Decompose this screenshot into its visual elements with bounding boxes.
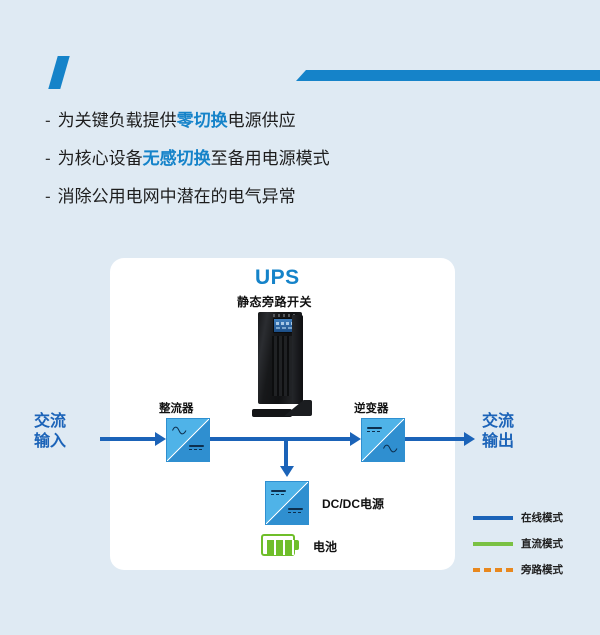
slash-accent-icon [48, 56, 69, 89]
list-item: - 消除公用电网中潜在的电气异常 [45, 186, 565, 209]
legend-label-online: 在线模式 [521, 510, 563, 525]
wire-inverter-to-output [404, 437, 466, 441]
dcdc-label: DC/DC电源 [322, 495, 384, 512]
ups-subtitle: 静态旁路开关 [237, 293, 312, 310]
legend-item-bypass: 旁路模式 [473, 562, 593, 577]
bullet-highlight: 零切换 [177, 110, 228, 133]
ac-output-label-line1: 交流 [482, 412, 514, 432]
battery-cells [267, 540, 294, 555]
battery-shell [261, 534, 295, 556]
bullet-marker: - [45, 110, 51, 133]
wire-input-to-rectifier [100, 437, 156, 441]
header-bar-accent [296, 70, 600, 81]
dc-symbol-icon [271, 490, 286, 495]
wire-dc-bus [208, 437, 352, 441]
bullet-marker: - [45, 148, 51, 171]
wire-bus-to-dcdc [284, 437, 288, 467]
diagram-legend: 在线模式 直流模式 旁路模式 [473, 510, 593, 588]
ups-tower-stand [248, 400, 314, 418]
ac-input-label-line1: 交流 [34, 412, 66, 432]
bullet-marker: - [45, 186, 51, 209]
arrow-into-dcdc-icon [280, 466, 294, 477]
bullet-text-pre: 消除公用电网中潜在的电气异常 [58, 186, 296, 209]
battery-label: 电池 [313, 538, 337, 555]
rectifier-block [166, 418, 210, 462]
ups-device-image [248, 312, 314, 420]
ac-sine-wave-icon [383, 444, 398, 453]
legend-swatch-dc-icon [473, 542, 513, 546]
legend-label-dc: 直流模式 [521, 536, 563, 551]
bullet-text-post: 电源供应 [228, 110, 296, 133]
ac-output-label-line2: 输出 [482, 432, 514, 452]
feature-bullet-list: - 为关键负载提供 零切换 电源供应 - 为核心设备 无感切换 至备用电源模式 … [45, 110, 565, 224]
ups-title: UPS [255, 266, 300, 290]
legend-swatch-bypass-icon [473, 568, 513, 572]
ac-input-label-line2: 输入 [34, 432, 66, 452]
battery-icon [261, 534, 301, 556]
legend-item-online: 在线模式 [473, 510, 593, 525]
list-item: - 为关键负载提供 零切换 电源供应 [45, 110, 565, 133]
bullet-highlight: 无感切换 [143, 148, 211, 171]
dc-symbol-icon [288, 508, 303, 513]
ac-output-label: 交流 输出 [482, 412, 514, 452]
arrow-into-output-icon [464, 432, 475, 446]
legend-swatch-online-icon [473, 516, 513, 520]
bullet-text-pre: 为关键负载提供 [58, 110, 177, 133]
ac-sine-wave-icon [172, 426, 187, 435]
dc-symbol-icon [367, 427, 382, 432]
list-item: - 为核心设备 无感切换 至备用电源模式 [45, 148, 565, 171]
arrow-into-rectifier-icon [155, 432, 166, 446]
ups-stand-wing [284, 400, 312, 416]
dc-symbol-icon [189, 445, 204, 450]
ac-input-label: 交流 输入 [34, 412, 66, 452]
bullet-text-pre: 为核心设备 [58, 148, 143, 171]
dcdc-converter-block [265, 481, 309, 525]
legend-label-bypass: 旁路模式 [521, 562, 563, 577]
battery-terminal [295, 540, 299, 550]
ups-side-panel [292, 315, 303, 404]
rectifier-label: 整流器 [159, 400, 194, 416]
inverter-label: 逆变器 [354, 400, 389, 416]
inverter-block [361, 418, 405, 462]
bullet-text-post: 至备用电源模式 [211, 148, 330, 171]
header-decoration [0, 52, 600, 94]
arrow-into-inverter-icon [350, 432, 361, 446]
legend-item-dc: 直流模式 [473, 536, 593, 551]
